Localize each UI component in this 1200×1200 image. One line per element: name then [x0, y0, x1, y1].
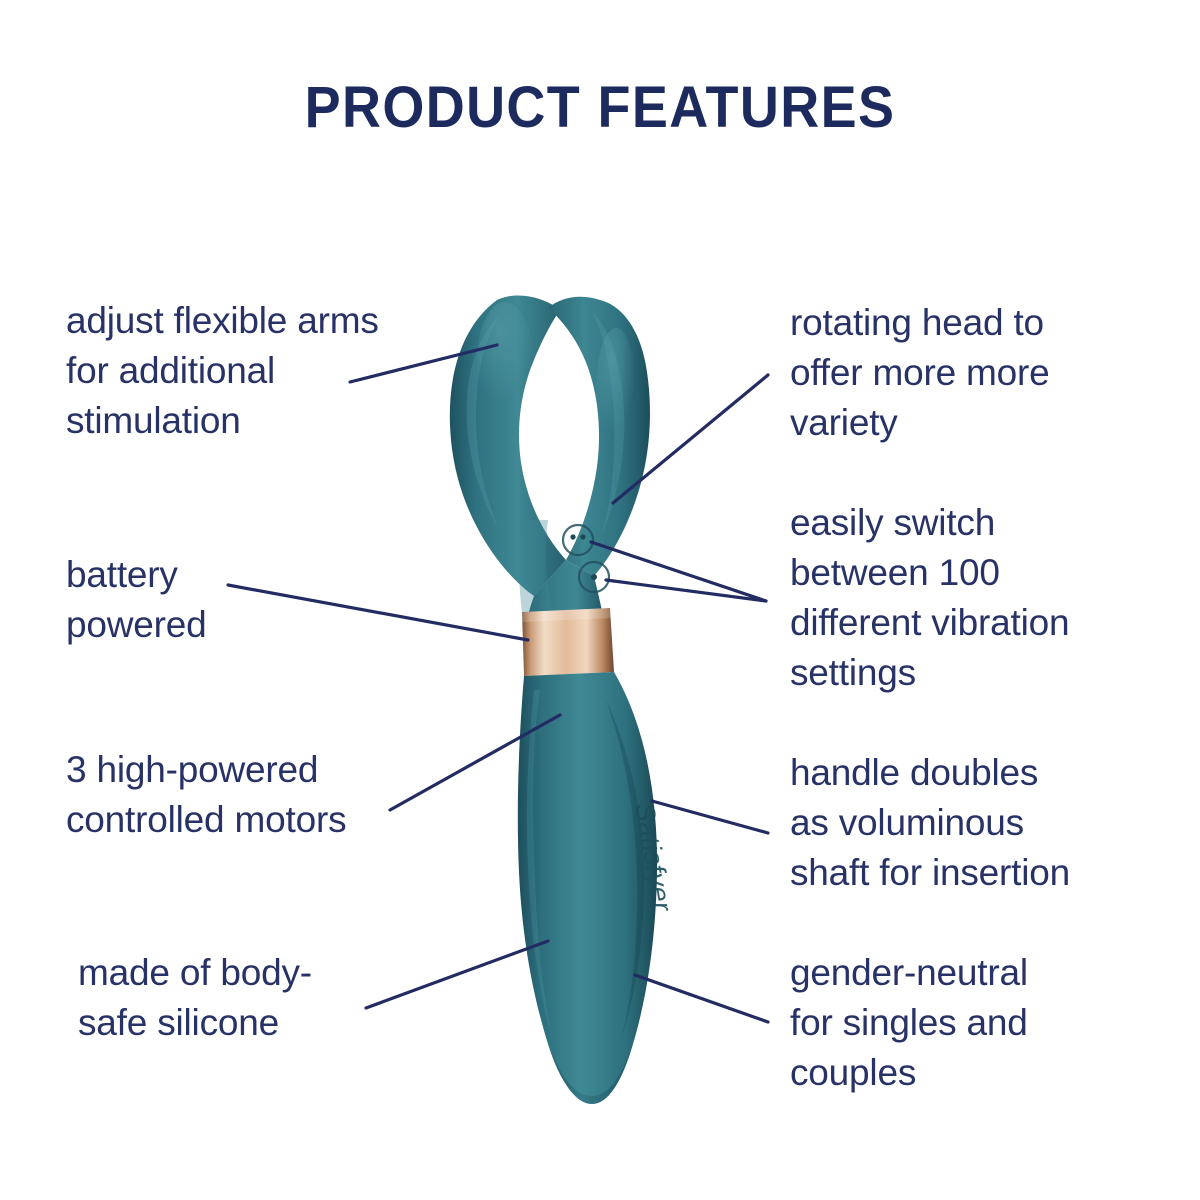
- callout-adjust-flexible-arms: adjust flexible arms for additional stim…: [66, 296, 466, 446]
- callout-high-powered-motors: 3 high-powered controlled motors: [66, 745, 476, 845]
- callout-rotating-head: rotating head to offer more more variety: [790, 298, 1150, 448]
- callout-battery-powered: battery powered: [66, 550, 466, 650]
- product-handle: [518, 672, 657, 1104]
- callout-vibration-settings: easily switch between 100 different vibr…: [790, 498, 1160, 698]
- callout-gender-neutral: gender-neutral for singles and couples: [790, 948, 1150, 1098]
- callout-handle-doubles: handle doubles as voluminous shaft for i…: [790, 748, 1160, 898]
- infographic-page: PRODUCT FEATURES: [0, 0, 1200, 1200]
- callout-body-safe-silicone: made of body- safe silicone: [78, 948, 478, 1048]
- accent-ring: [522, 608, 614, 676]
- product-left-arm: [450, 295, 566, 596]
